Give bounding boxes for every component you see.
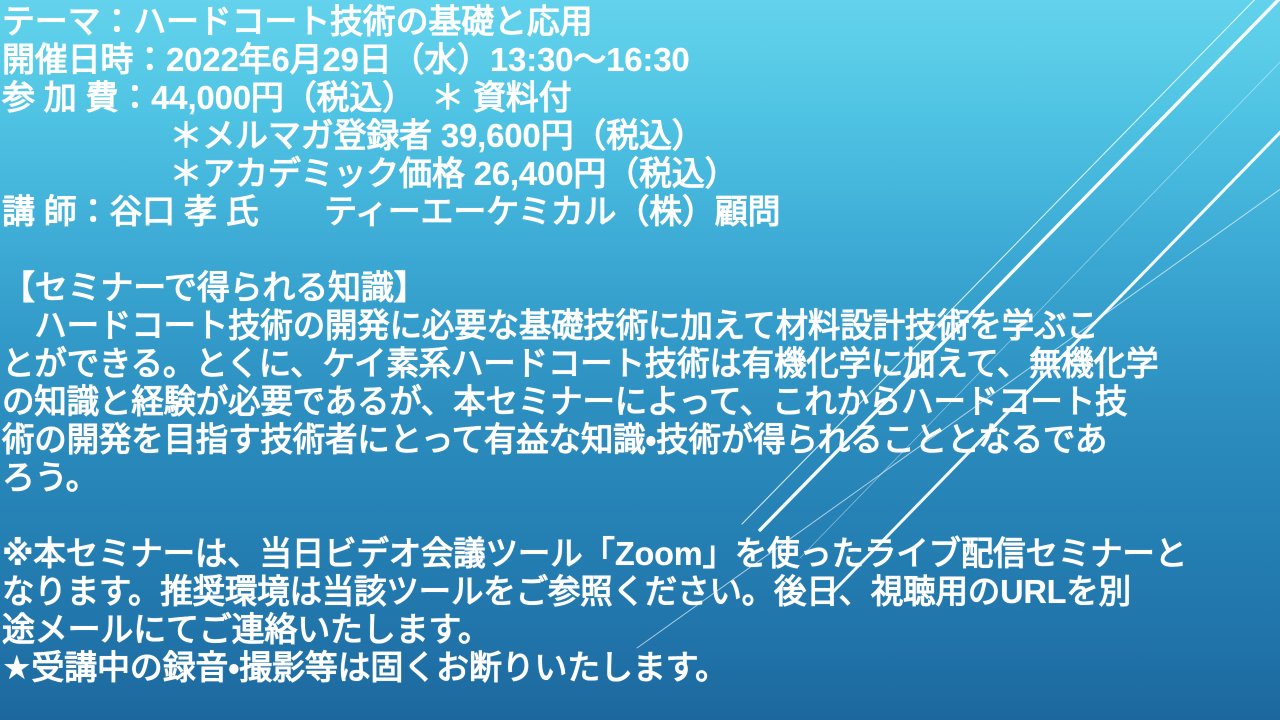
theme-line: テーマ：ハードコート技術の基礎と応用	[2, 4, 1261, 42]
knowledge-body-line-2: とができる。とくに、ケイ素系ハードコート技術は有機化学に加えて、無機化学	[2, 346, 1242, 384]
note-line-2: なります。推奨環境は当該ツールをご参照ください。後日、視聴用のURLを別	[2, 574, 1242, 612]
knowledge-body-line-1: ハードコート技術の開発に必要な基礎技術に加えて材料設計技術を学ぶこ	[2, 308, 1242, 346]
seminar-slide: テーマ：ハードコート技術の基礎と応用 開催日時：2022年6月29日（水）13:…	[0, 0, 1280, 720]
knowledge-body-line-5: ろう。	[2, 460, 1261, 498]
spacer-after-knowledge	[2, 498, 1261, 536]
fee-line: 参 加 費：44,000円（税込） ＊ 資料付	[2, 80, 1261, 118]
knowledge-body-line-3: の知識と経験が必要であるが、本セミナーによって、これからハードコート技	[2, 384, 1242, 422]
recording-warning-line: ★受講中の録音・撮影等は固くお断りいたします。	[2, 650, 1261, 688]
fee-note-mailmagazine: ＊メルマガ登録者 39,600円（税込）	[2, 118, 1261, 156]
note-line-1: ※本セミナーは、当日ビデオ会議ツール「Zoom」を使ったライブ配信セミナーと	[2, 536, 1242, 574]
fee-note-academic: ＊アカデミック価格 26,400円（税込）	[2, 156, 1261, 194]
spacer-after-header	[2, 232, 1261, 270]
datetime-line: 開催日時：2022年6月29日（水）13:30〜16:30	[2, 42, 1261, 80]
lecturer-line: 講 師：谷口 孝 氏 ティーエーケミカル（株）顧問	[2, 194, 1261, 232]
note-line-3: 途メールにてご連絡いたします。	[2, 612, 1261, 650]
slide-text-content: テーマ：ハードコート技術の基礎と応用 開催日時：2022年6月29日（水）13:…	[0, 0, 1280, 720]
knowledge-body-line-4: 術の開発を目指す技術者にとって有益な知識・技術が得られることとなるであ	[2, 422, 1242, 460]
knowledge-heading: 【セミナーで得られる知識】	[2, 270, 1261, 308]
